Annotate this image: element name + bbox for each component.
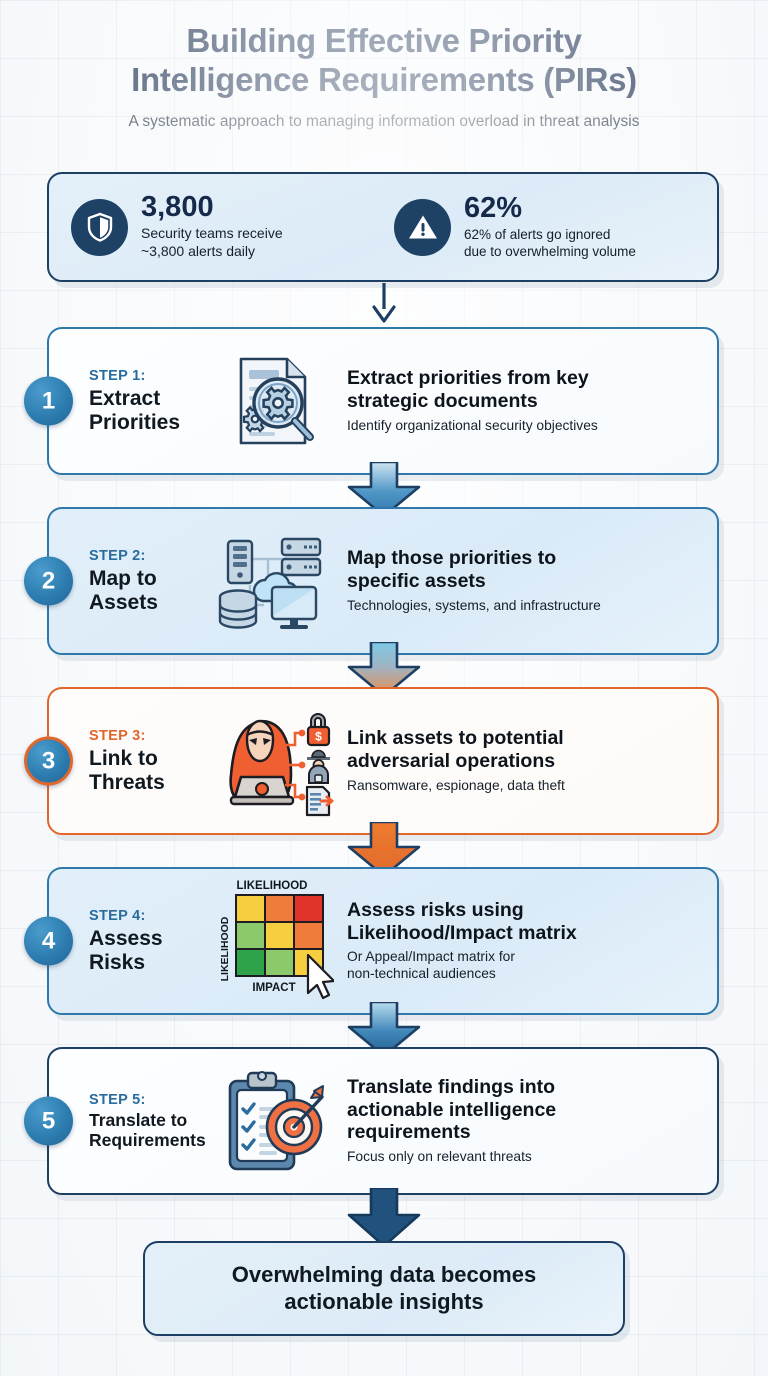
step-name-line-2: Requirements — [89, 1131, 201, 1151]
stats-card: 3,800 Security teams receive ~3,800 aler… — [47, 172, 719, 282]
sub-line-1: Focus only on relevant threats — [347, 1149, 699, 1166]
step-card-4[interactable]: 4 STEP 4: Assess Risks LIKELIHOOD LIKELI… — [47, 867, 719, 1015]
network-infrastructure-icon — [201, 525, 341, 637]
step-number-badge-4: 4 — [24, 917, 73, 966]
step-detail-5: Translate findings into actionable intel… — [341, 1076, 717, 1166]
risk-matrix-icon: LIKELIHOOD LIKELIHOOD IMPACT — [201, 877, 341, 1005]
step-sub-2: Technologies, systems, and infrastructur… — [347, 598, 699, 615]
step-name-line-2: Assets — [89, 591, 201, 615]
stat-value: 3,800 — [141, 193, 283, 222]
sub-line-1: Or Appeal/Impact matrix for — [347, 949, 699, 966]
outcome-line-2: actionable insights — [232, 1289, 536, 1316]
step-headline-5: Translate findings into actionable intel… — [347, 1076, 699, 1144]
shield-icon — [71, 199, 128, 256]
step-sub-3: Ransomware, espionage, data theft — [347, 778, 699, 795]
page-title: Building Effective Priority Intelligence… — [34, 22, 734, 99]
step-name-line-1: Link to — [89, 747, 201, 771]
title-line-1: Building Effective Priority — [34, 22, 734, 61]
step-card-3[interactable]: 3 STEP 3: Link to Threats — [47, 687, 719, 835]
title-line-2: Intelligence Requirements (PIRs) — [34, 61, 734, 100]
step-name-line-1: Map to — [89, 567, 201, 591]
matrix-bottom-label: IMPACT — [252, 982, 295, 994]
stat-description: 62% of alerts go ignored due to overwhel… — [464, 226, 636, 260]
step-detail-2: Map those priorities to specific assets … — [341, 547, 717, 614]
step-kicker-3: STEP 3: — [89, 728, 201, 744]
headline-line-1: Translate findings into — [347, 1076, 699, 1099]
step-name-4: Assess Risks — [89, 927, 201, 974]
step-number-badge-1: 1 — [24, 377, 73, 426]
headline-line-1: Assess risks using — [347, 899, 699, 922]
step-sub-5: Focus only on relevant threats — [347, 1149, 699, 1166]
svg-text:$: $ — [315, 730, 322, 744]
headline-line-1: Link assets to potential — [347, 727, 699, 750]
outcome-line-1: Overwhelming data becomes — [232, 1262, 536, 1289]
step-headline-3: Link assets to potential adversarial ope… — [347, 727, 699, 773]
headline-line-2: actionable intelligence — [347, 1099, 699, 1122]
stat-text-group: 3,800 Security teams receive ~3,800 aler… — [141, 193, 283, 261]
step-number-badge-5: 5 — [24, 1097, 73, 1146]
stat-value: 62% — [464, 194, 636, 223]
sub-line-1: Identify organizational security objecti… — [347, 418, 699, 435]
step-name-line-1: Assess — [89, 927, 201, 951]
stat-desc-line-2: ~3,800 alerts daily — [141, 243, 283, 261]
step-name-2: Map to Assets — [89, 567, 201, 614]
step-name-1: Extract Priorities — [89, 387, 201, 434]
step-card-2[interactable]: 2 STEP 2: Map to Assets — [47, 507, 719, 655]
warning-triangle-icon — [394, 199, 451, 256]
stat-desc-line-2: due to overwhelming volume — [464, 243, 636, 260]
step-headline-2: Map those priorities to specific assets — [347, 547, 699, 593]
headline-line-3: requirements — [347, 1121, 699, 1144]
headline-line-2: specific assets — [347, 570, 699, 593]
infographic-page: Building Effective Priority Intelligence… — [0, 0, 768, 1376]
document-with-magnifier-gear-icon — [201, 345, 341, 457]
step-number-badge-2: 2 — [24, 557, 73, 606]
matrix-side-label: LIKELIHOOD — [219, 916, 231, 981]
step-detail-3: Link assets to potential adversarial ope… — [341, 727, 717, 794]
stat-item-ignored: 62% 62% of alerts go ignored due to over… — [388, 194, 717, 260]
step-name-line-1: Translate to — [89, 1111, 201, 1131]
step-name-line-2: Priorities — [89, 411, 201, 435]
headline-line-2: Likelihood/Impact matrix — [347, 922, 699, 945]
headline-line-2: adversarial operations — [347, 750, 699, 773]
header: Building Effective Priority Intelligence… — [0, 0, 768, 132]
step-name-5: Translate to Requirements — [89, 1111, 201, 1151]
outcome-card: Overwhelming data becomes actionable ins… — [143, 1241, 625, 1336]
stat-item-alerts: 3,800 Security teams receive ~3,800 aler… — [49, 193, 388, 261]
step-headline-4: Assess risks using Likelihood/Impact mat… — [347, 899, 699, 945]
step-name-3: Link to Threats — [89, 747, 201, 794]
outcome-text: Overwhelming data becomes actionable ins… — [232, 1262, 536, 1316]
step-card-5[interactable]: 5 STEP 5: Translate to Requirements — [47, 1047, 719, 1195]
step-name-line-1: Extract — [89, 387, 201, 411]
stat-text-group: 62% 62% of alerts go ignored due to over… — [464, 194, 636, 260]
page-subtitle: A systematic approach to managing inform… — [34, 112, 734, 132]
step-sub-1: Identify organizational security objecti… — [347, 418, 699, 435]
step-name-line-2: Risks — [89, 951, 201, 975]
headline-line-2: strategic documents — [347, 390, 699, 413]
headline-line-1: Extract priorities from key — [347, 367, 699, 390]
step-number-badge-3: 3 — [24, 737, 73, 786]
step-kicker-4: STEP 4: — [89, 908, 201, 924]
stat-desc-line-1: Security teams receive — [141, 225, 283, 243]
connector-arrow-stats-to-step1 — [371, 283, 397, 330]
step-detail-4: Assess risks using Likelihood/Impact mat… — [341, 899, 717, 983]
step-kicker-1: STEP 1: — [89, 368, 201, 384]
step-sub-4: Or Appeal/Impact matrix for non-technica… — [347, 949, 699, 983]
matrix-top-label: LIKELIHOOD — [237, 880, 308, 892]
step-kicker-2: STEP 2: — [89, 548, 201, 564]
hacker-threat-icon: $ — [201, 705, 341, 817]
step-headline-1: Extract priorities from key strategic do… — [347, 367, 699, 413]
clipboard-target-icon — [201, 1065, 341, 1177]
stat-desc-line-1: 62% of alerts go ignored — [464, 226, 636, 243]
sub-line-1: Technologies, systems, and infrastructur… — [347, 598, 699, 615]
step-name-line-2: Threats — [89, 771, 201, 795]
headline-line-1: Map those priorities to — [347, 547, 699, 570]
stat-description: Security teams receive ~3,800 alerts dai… — [141, 225, 283, 261]
step-detail-1: Extract priorities from key strategic do… — [341, 367, 717, 434]
step-card-1[interactable]: 1 STEP 1: Extract Priorities — [47, 327, 719, 475]
sub-line-1: Ransomware, espionage, data theft — [347, 778, 699, 795]
step-kicker-5: STEP 5: — [89, 1092, 201, 1108]
sub-line-2: non-technical audiences — [347, 966, 699, 983]
